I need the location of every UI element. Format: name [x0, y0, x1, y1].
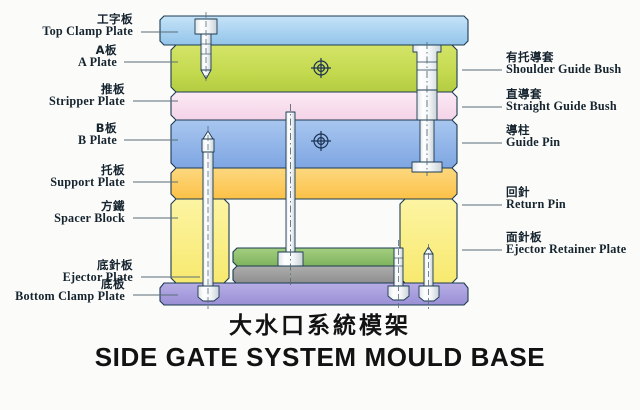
callout-stripper-plate: 推板Stripper Plate [49, 83, 125, 109]
callout-bottom-clamp-plate: 底板Bottom Clamp Plate [15, 278, 125, 304]
callout-spacer-block: 方鐵Spacer Block [54, 200, 125, 226]
title-english: SIDE GATE SYSTEM MOULD BASE [0, 342, 640, 373]
title-block: 大水口系統模架 SIDE GATE SYSTEM MOULD BASE [0, 312, 640, 373]
callout-label-en: Support Plate [50, 176, 125, 189]
callout-a-plate: A板A Plate [78, 44, 117, 70]
callout-label-en: Bottom Clamp Plate [15, 290, 125, 303]
callout-label-en: Stripper Plate [49, 95, 125, 108]
callout-top-clamp-plate: 工字板Top Clamp Plate [42, 13, 133, 39]
plate-spacer-block-left [171, 199, 229, 283]
guide-pin-shaft [420, 120, 434, 162]
plate-ejector-plate [233, 266, 398, 284]
plate-support-plate [171, 168, 457, 199]
plate-stripper-plate [171, 92, 457, 120]
callout-straight-guide-bush: 直導套Straight Guide Bush [506, 88, 617, 114]
callout-label-en: Guide Pin [506, 136, 560, 149]
callout-guide-pin: 導柱Guide Pin [506, 124, 560, 150]
callout-label-en: Return Pin [506, 198, 566, 211]
callout-shoulder-guide-bush: 有托導套Shoulder Guide Bush [506, 51, 621, 77]
title-chinese: 大水口系統模架 [0, 312, 640, 341]
callout-b-plate: B板B Plate [78, 122, 117, 148]
callout-support-plate: 托板Support Plate [50, 164, 125, 190]
callout-label-en: B Plate [78, 134, 117, 147]
callout-label-en: Straight Guide Bush [506, 100, 617, 113]
callout-label-en: Spacer Block [54, 212, 125, 225]
callout-label-en: Top Clamp Plate [42, 25, 133, 38]
return-pin-2-head [419, 286, 439, 301]
plate-ejector-retainer-plate [233, 248, 398, 266]
callout-label-en: Shoulder Guide Bush [506, 63, 621, 76]
callout-ejector-retainer-plate: 面針板Ejector Retainer Plate [506, 231, 626, 257]
callout-label-en: A Plate [78, 56, 117, 69]
callout-return-pin: 回針Return Pin [506, 186, 566, 212]
support-pillar-bolt-foot [198, 286, 219, 301]
callout-label-en: Ejector Retainer Plate [506, 243, 626, 256]
